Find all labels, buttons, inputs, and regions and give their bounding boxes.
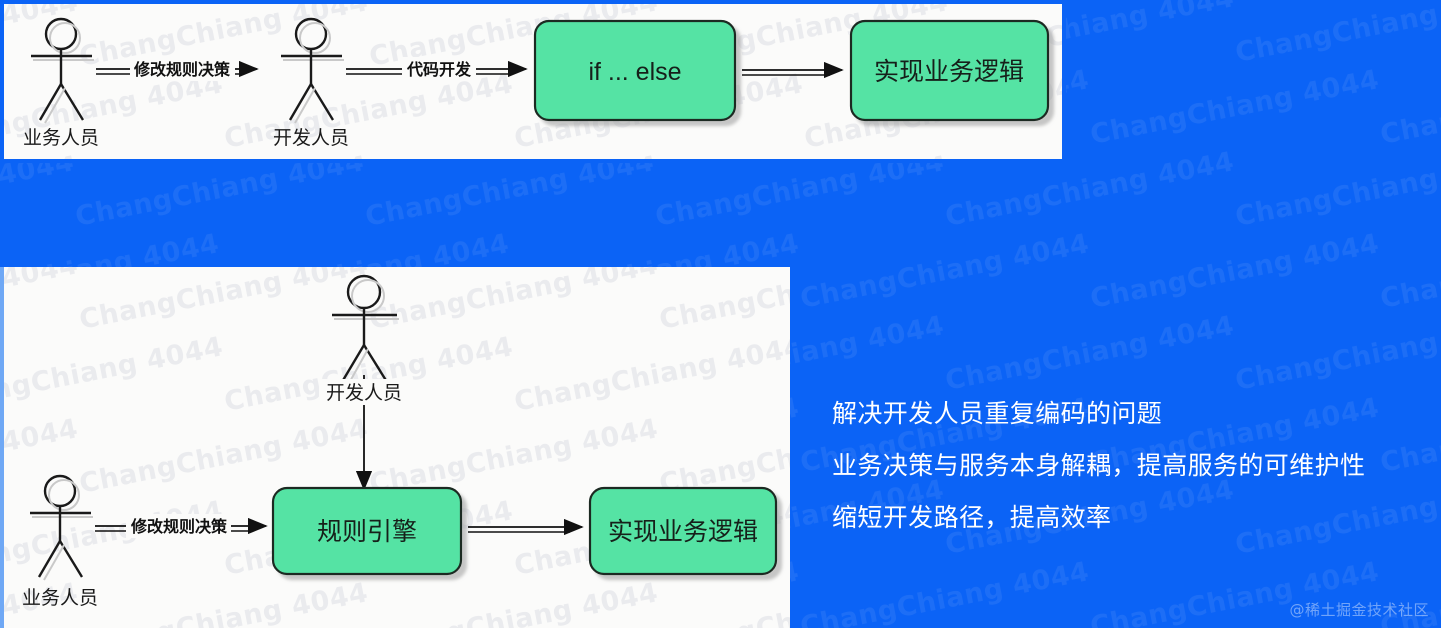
actor-label: 开发人员 [273, 127, 349, 149]
actor-label: 业务人员 [22, 587, 98, 609]
watermark-text: ChangChiang 4044 [942, 146, 1236, 232]
note-line-2: 业务决策与服务本身解耦，提高服务的可维护性 [832, 440, 1441, 492]
watermark-text: ChangChiang 4044 [1087, 228, 1381, 314]
slide-canvas: ChangChiang 4044ChangChiang 4044ChangChi… [0, 0, 1441, 628]
watermark-text: ChangChiang 4044 [362, 146, 656, 232]
watermark-text: ChangChiang 4044 [1087, 64, 1381, 150]
attribution-watermark: @稀土掘金技术社区 [1289, 599, 1429, 620]
edge-label: 修改规则决策 [133, 60, 231, 79]
note-line-1: 解决开发人员重复编码的问题 [832, 388, 1441, 440]
watermark-text: ChangChiang 4044 [0, 146, 76, 232]
edge-engine-to-logic [468, 527, 582, 532]
node-label: 规则引擎 [317, 517, 417, 546]
actor-label-overlay: 开发人员 [326, 382, 402, 404]
watermark-text: ChangChiang 4044 [1232, 146, 1441, 232]
actor-developer-top: 开发人员 [273, 19, 349, 149]
node-label: 实现业务逻辑 [608, 517, 758, 546]
diagram-panel-bottom: ChangChiang 4044ChangChiang 4044ChangChi… [4, 267, 790, 628]
watermark-text: ChangChiang 4044 [797, 556, 1091, 628]
notes-block: 解决开发人员重复编码的问题 业务决策与服务本身解耦，提高服务的可维护性 缩短开发… [832, 388, 1441, 544]
watermark-text: ChangChiang 4044 [797, 228, 1091, 314]
node-business-logic-bottom: 实现业务逻辑 [590, 488, 776, 574]
node-label: 实现业务逻辑 [874, 57, 1024, 86]
edge-ifelse-to-logic [742, 70, 842, 75]
flow-diagram-rule-engine: 开发人员 开发人员 业务人员 [4, 267, 790, 628]
watermark-text: ChangChiang 4044 [1377, 228, 1441, 314]
watermark-text: ChangChiang 4044 [1232, 310, 1441, 396]
node-business-logic-top: 实现业务逻辑 [851, 21, 1048, 120]
node-if-else: if ... else [535, 21, 735, 120]
watermark-text: ChangChiang 4044 [652, 146, 946, 232]
watermark-text: ChangChiang 4044 [942, 310, 1236, 396]
edge-developer-to-engine: 开发人员 [319, 375, 411, 489]
edge-developer-to-ifelse: 代码开发 [346, 57, 526, 81]
edge-business-to-engine: 修改规则决策 [95, 514, 266, 538]
diagram-panel-top: ChangChiang 4044ChangChiang 4044ChangChi… [4, 4, 1062, 159]
actor-label: 业务人员 [23, 127, 99, 149]
edge-business-to-developer: 修改规则决策 [96, 57, 257, 81]
edge-label: 修改规则决策 [130, 517, 228, 536]
flow-diagram-traditional: 业务人员 修改规则决策 [4, 4, 1062, 159]
watermark-text: ChangChiang 4044 [72, 146, 366, 232]
note-line-3: 缩短开发路径，提高效率 [832, 492, 1441, 544]
actor-business-top: 业务人员 [23, 19, 99, 149]
node-rule-engine: 规则引擎 [273, 488, 461, 574]
actor-business-bottom: 业务人员 [22, 476, 98, 609]
watermark-text: ChangChiang 4044 [1377, 64, 1441, 150]
edge-label: 代码开发 [406, 60, 472, 79]
watermark-text: ChangChiang 4044 [1232, 0, 1441, 69]
node-label: if ... else [588, 58, 681, 86]
